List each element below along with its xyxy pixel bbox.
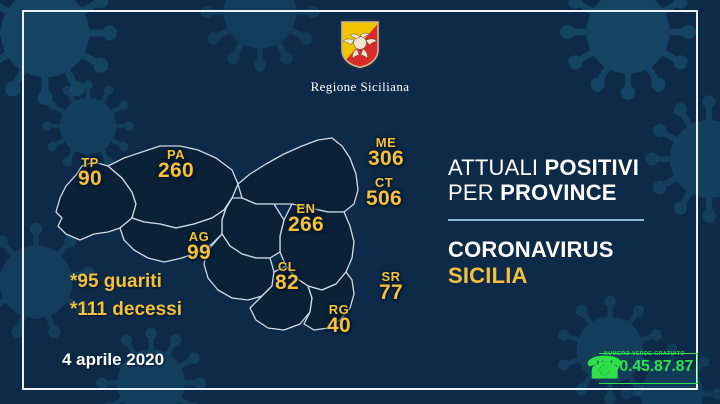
- headline-province: PROVINCE: [500, 180, 617, 205]
- toll-free-number: 800.45.87.87: [602, 358, 693, 376]
- headline-per: PER: [448, 180, 494, 205]
- emblem-caption: Regione Siciliana: [0, 79, 720, 95]
- headline-panel: ATTUALI POSITIVI PER PROVINCE CORONAVIRU…: [448, 156, 680, 289]
- stat-recovered: *95 guariti: [70, 268, 182, 296]
- headline-divider: [448, 219, 644, 221]
- subtitle-sicilia: SICILIA: [448, 263, 680, 289]
- report-date: 4 aprile 2020: [62, 350, 164, 370]
- subtitle-coronavirus: CORONAVIRUS: [448, 237, 680, 263]
- province-label-en: EN 266: [278, 202, 334, 235]
- subtitle: CORONAVIRUS SICILIA: [448, 237, 680, 289]
- headline-line-2: PER PROVINCE: [448, 181, 680, 206]
- province-label-cl: CL 82: [264, 260, 310, 293]
- toll-free-number-badge[interactable]: ☎ NUMERO VERDE GRATUITO 800.45.87.87: [586, 352, 698, 386]
- province-label-me: ME 306: [358, 136, 414, 169]
- stat-deaths: *111 decessi: [70, 296, 182, 324]
- regione-siciliana-emblem-block: Regione Siciliana: [0, 18, 720, 95]
- province-label-ct: CT 506: [356, 176, 412, 209]
- province-label-pa: PA 260: [148, 148, 204, 181]
- infographic-poster: Regione Siciliana: [0, 0, 720, 404]
- headline-line-1: ATTUALI POSITIVI: [448, 156, 680, 181]
- headline-attuali: ATTUALI: [448, 155, 538, 180]
- province-label-rg: RG 40: [316, 303, 362, 336]
- province-label-sr: SR 77: [368, 270, 414, 303]
- province-label-tp: TP 90: [64, 156, 116, 189]
- headline-positivi: POSITIVI: [545, 155, 640, 180]
- toll-free-caption: NUMERO VERDE GRATUITO: [604, 351, 685, 357]
- headline: ATTUALI POSITIVI PER PROVINCE: [448, 156, 680, 205]
- summary-statistics: *95 guariti *111 decessi: [70, 268, 182, 323]
- province-label-ag: AG 99: [176, 230, 222, 263]
- sicilian-trinacria-coat-of-arms-icon: [337, 18, 383, 75]
